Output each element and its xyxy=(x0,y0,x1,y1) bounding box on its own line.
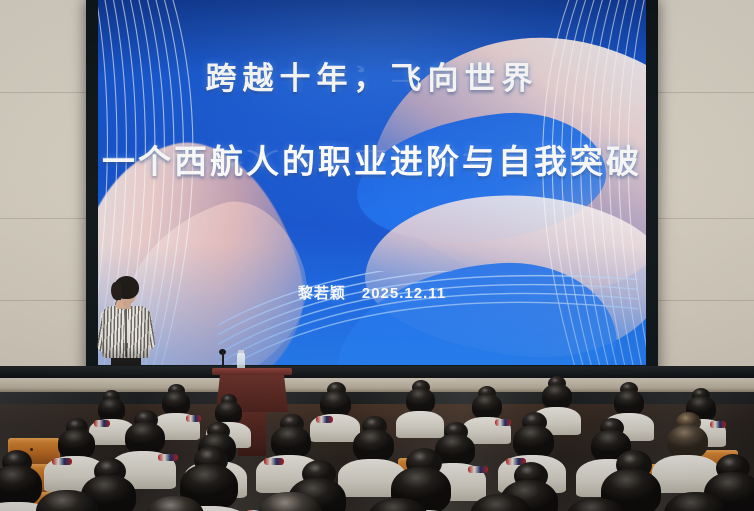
presentation-date: 2025.12.11 xyxy=(362,285,446,302)
slide-text-group: 跨越十年，飞向世界 一个西航人的职业进阶与自我突破 跨越十年，飞向世界 一个西航… xyxy=(98,0,646,365)
slide-title-line-1: 跨越十年，飞向世界 xyxy=(98,53,646,98)
slide-byline: 黎若颖2025.12.11 xyxy=(98,282,646,303)
audience-area xyxy=(0,372,754,511)
presentation-screen: 跨越十年，飞向世界 一个西航人的职业进阶与自我突破 跨越十年，飞向世界 一个西航… xyxy=(98,0,646,365)
presenter-hand xyxy=(116,300,123,309)
photo-scene: 跨越十年，飞向世界 一个西航人的职业进阶与自我突破 跨越十年，飞向世界 一个西航… xyxy=(0,0,754,511)
presenter xyxy=(96,276,156,380)
slide-title-line-2: 一个西航人的职业进阶与自我突破 xyxy=(98,135,646,183)
presenter-jacket-seam xyxy=(125,309,127,357)
water-bottle xyxy=(237,353,245,369)
presenter-name: 黎若颖 xyxy=(298,285,346,302)
seat-rivet xyxy=(30,448,33,451)
